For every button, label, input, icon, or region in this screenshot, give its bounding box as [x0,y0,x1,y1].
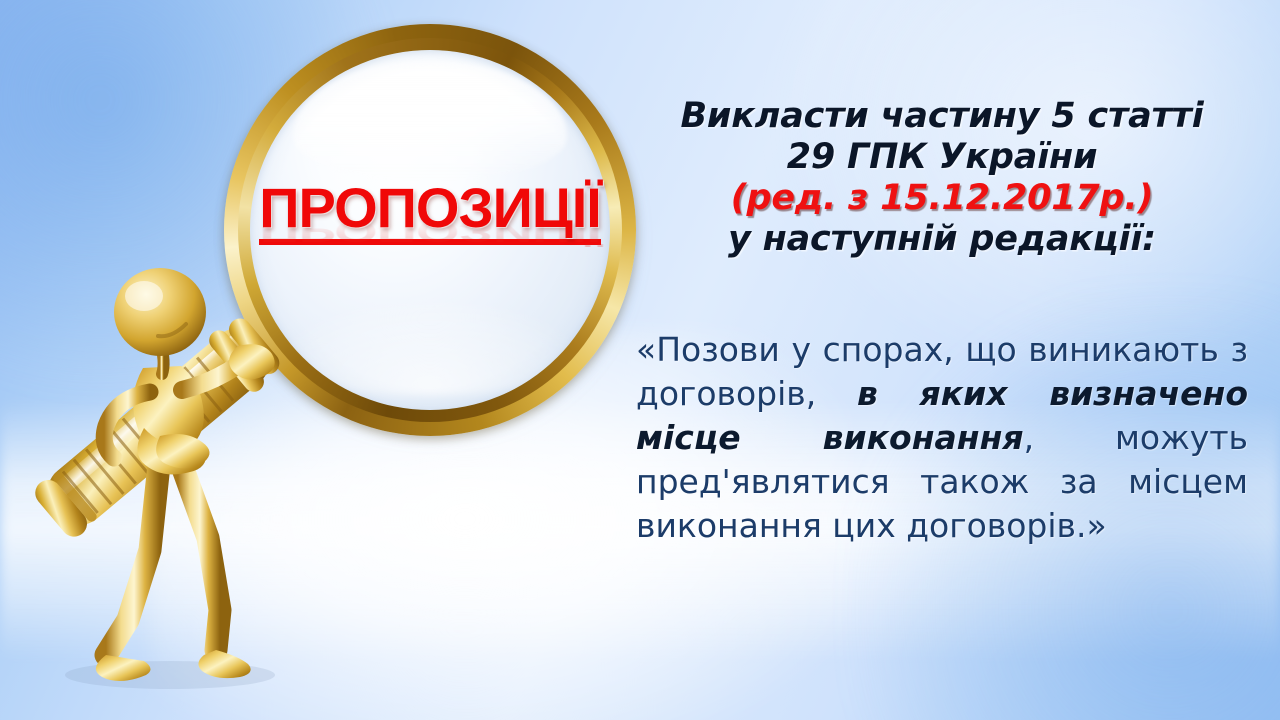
heading-line-4: у наступній редакції: [636,219,1248,260]
heading-line-2: 29 ГПК України [636,137,1248,178]
heading-line-1: Викласти частину 5 статті [636,96,1248,137]
slide-canvas: ПРОПОЗИЦІЇ ПРОПОЗИЦІЇ [0,0,1280,720]
gold-mannequin-figure [10,250,340,690]
heading-line-3-revision: (ред. з 15.12.2017р.) [636,178,1248,219]
quoted-law-text: «Позови у спорах, що виникають з договор… [636,328,1248,547]
page-title: Викласти частину 5 статті 29 ГПК України… [636,96,1248,260]
